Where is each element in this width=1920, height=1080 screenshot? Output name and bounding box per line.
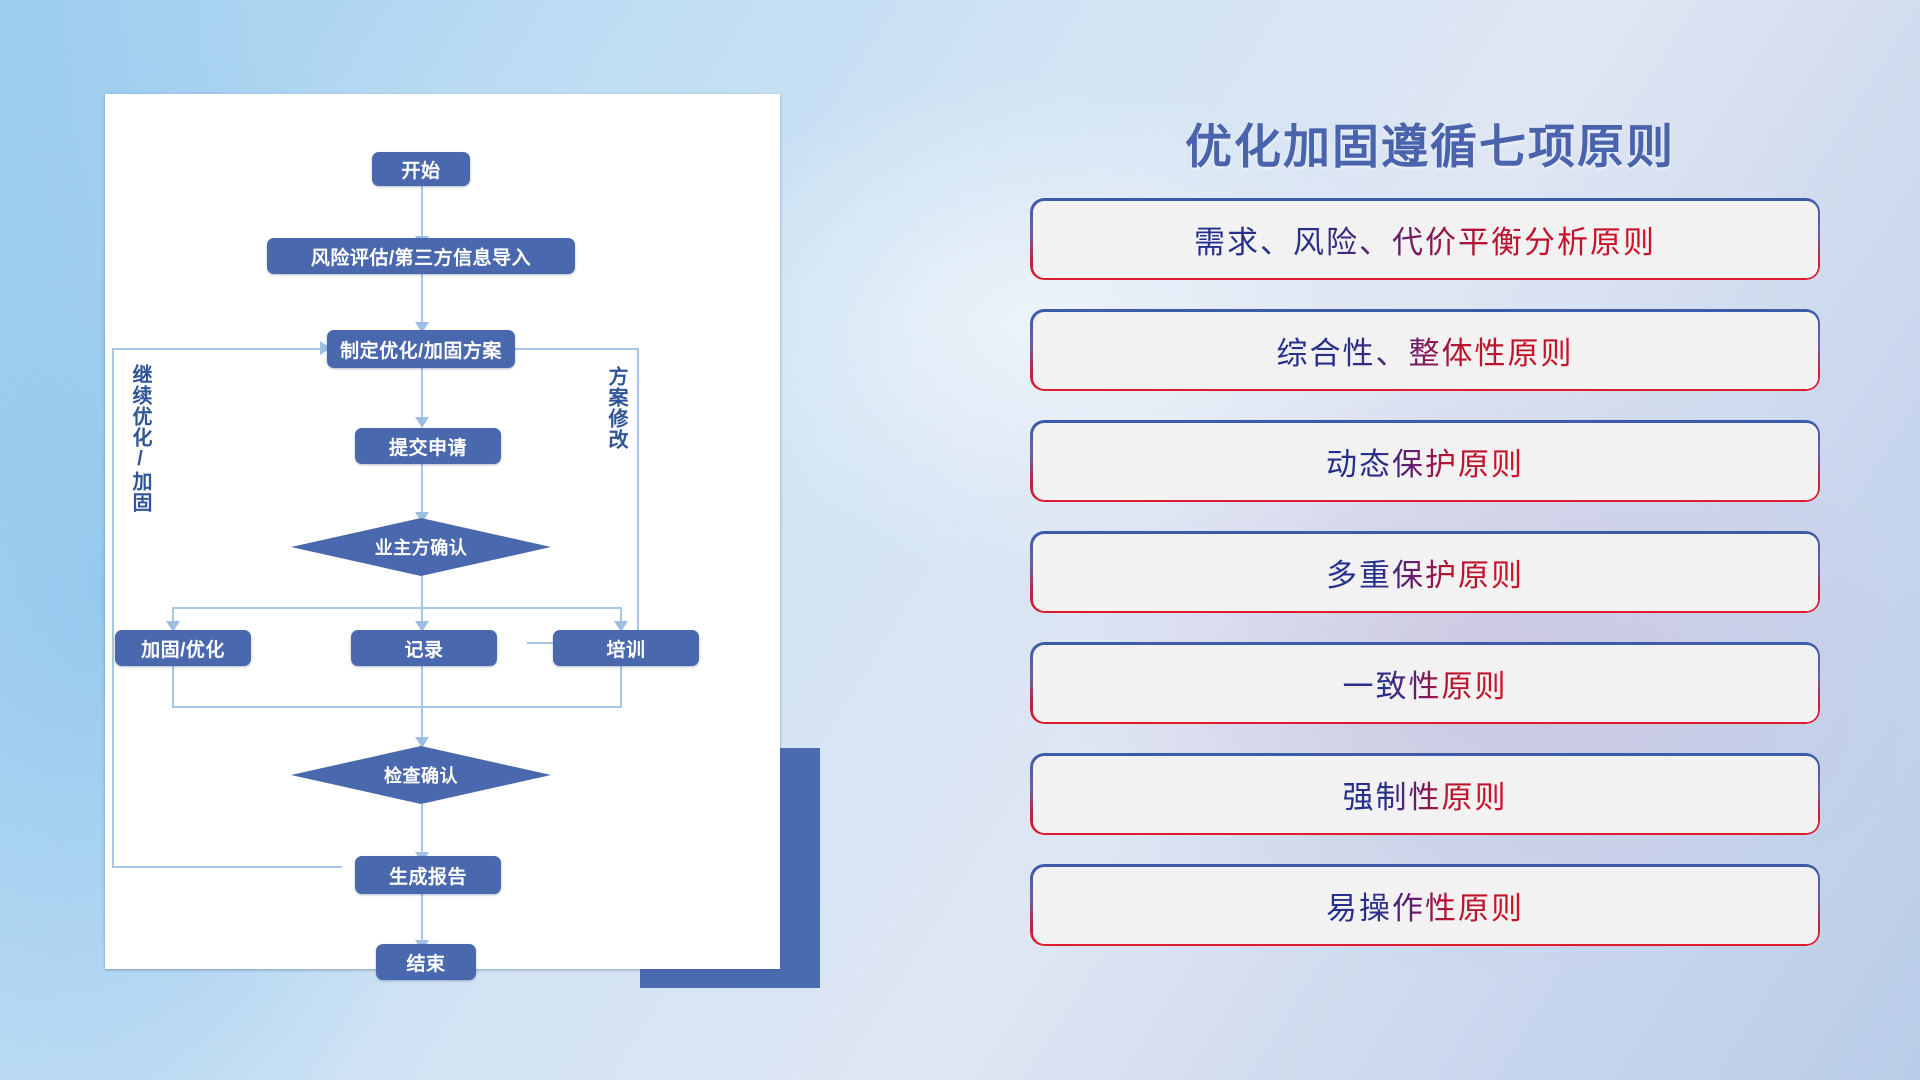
conn-check-report (421, 804, 423, 856)
slide-root: 继续优化/加固 方案修改 开始 风险评估/第三方信息导入 制定优化/加固方案 提… (0, 0, 1920, 1080)
loop-left-top-hline (112, 348, 327, 350)
flow-node-plan[interactable]: 制定优化/加固方案 (327, 330, 515, 368)
principle-card-3-inner: 动态保护原则 (1033, 423, 1818, 500)
principle-card-5-label: 一致性原则 (1343, 661, 1508, 706)
principle-card-3-label: 动态保护原则 (1326, 439, 1524, 484)
principle-card-7[interactable]: 易操作性原则 (1030, 864, 1820, 946)
principle-card-1-label: 需求、风险、代价平衡分析原则 (1194, 217, 1656, 262)
flowchart-card: 继续优化/加固 方案修改 开始 风险评估/第三方信息导入 制定优化/加固方案 提… (105, 94, 780, 969)
loop-left-bottom-hline (112, 866, 342, 868)
principle-card-6-label: 强制性原则 (1343, 772, 1508, 817)
diamond-shape (291, 746, 551, 804)
principle-card-5[interactable]: 一致性原则 (1030, 642, 1820, 724)
flow-node-start[interactable]: 开始 (372, 152, 470, 186)
principle-card-2-inner: 综合性、整体性原则 (1033, 312, 1818, 389)
principles-title: 优化加固遵循七项原则 (1000, 108, 1860, 177)
conn-start-risk (421, 184, 423, 240)
flow-node-record[interactable]: 记录 (351, 630, 497, 666)
conn-merge-right-vline (620, 666, 622, 708)
principle-card-4-label: 多重保护原则 (1326, 550, 1524, 595)
principle-card-1-inner: 需求、风险、代价平衡分析原则 (1033, 201, 1818, 278)
loop-left-vline (112, 348, 114, 868)
conn-report-end (421, 894, 423, 944)
conn-owner-branch-stem (421, 573, 423, 609)
flow-node-generate-report[interactable]: 生成报告 (355, 856, 501, 894)
principle-card-2[interactable]: 综合性、整体性原则 (1030, 309, 1820, 391)
flowchart-canvas: 继续优化/加固 方案修改 开始 风险评估/第三方信息导入 制定优化/加固方案 提… (105, 94, 780, 969)
principle-card-3[interactable]: 动态保护原则 (1030, 420, 1820, 502)
flow-node-owner-confirm[interactable]: 业主方确认 (291, 518, 551, 576)
flow-node-check-confirm[interactable]: 检查确认 (291, 746, 551, 804)
flow-node-reinforce[interactable]: 加固/优化 (115, 630, 251, 666)
conn-merge-hline (172, 706, 622, 708)
principle-card-7-inner: 易操作性原则 (1033, 867, 1818, 944)
principle-card-4[interactable]: 多重保护原则 (1030, 531, 1820, 613)
principle-card-4-inner: 多重保护原则 (1033, 534, 1818, 611)
conn-plan-submit (421, 367, 423, 421)
principles-pane: 优化加固遵循七项原则 需求、风险、代价平衡分析原则 综合性、整体性原则 动态保护… (1000, 0, 1920, 1080)
conn-merge-mid-vline (421, 666, 423, 741)
conn-owner-branch-hline (172, 607, 622, 609)
conn-risk-plan (421, 271, 423, 326)
flow-node-submit[interactable]: 提交申请 (355, 428, 501, 464)
principle-card-6[interactable]: 强制性原则 (1030, 753, 1820, 835)
principle-card-2-label: 综合性、整体性原则 (1277, 328, 1574, 373)
flow-node-risk-assessment[interactable]: 风险评估/第三方信息导入 (267, 238, 575, 274)
principle-card-1[interactable]: 需求、风险、代价平衡分析原则 (1030, 198, 1820, 280)
flow-node-end[interactable]: 结束 (376, 944, 476, 980)
flow-node-training[interactable]: 培训 (553, 630, 699, 666)
diamond-shape (291, 518, 551, 576)
principle-card-5-inner: 一致性原则 (1033, 645, 1818, 722)
side-label-continue-optimize: 继续优化/加固 (129, 364, 150, 513)
conn-merge-left-vline (172, 666, 174, 708)
loop-right-vline (637, 348, 639, 644)
conn-plan-submit-arrow (415, 417, 429, 428)
principle-card-7-label: 易操作性原则 (1326, 883, 1524, 928)
side-label-plan-revision: 方案修改 (605, 366, 626, 450)
loop-right-top-hline (503, 348, 639, 350)
principle-card-6-inner: 强制性原则 (1033, 756, 1818, 833)
conn-submit-owner (421, 463, 423, 515)
